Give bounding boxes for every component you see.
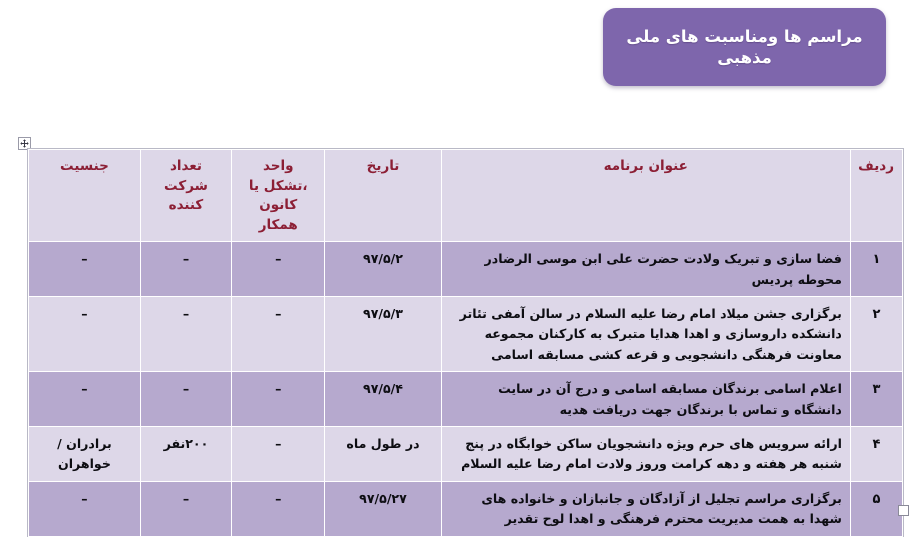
cell-count: ۲۰۰نفر: [140, 426, 231, 481]
column-header-gender[interactable]: جنسیت: [29, 150, 141, 242]
cell-index: ۵: [850, 481, 902, 536]
table-row[interactable]: ۴ ارائه سرویس های حرم ویژه دانشجویان ساک…: [29, 426, 903, 481]
cell-title: برگزاری جشن میلاد امام رضا علیه السلام د…: [441, 297, 850, 372]
cell-gender: –: [29, 481, 141, 536]
table-row[interactable]: ۵ برگزاری مراسم تجلیل از آزادگان و جانبا…: [29, 481, 903, 536]
cell-date: ۹۷/۵/۲۷: [325, 481, 441, 536]
column-header-count[interactable]: تعداد شرکت کننده: [140, 150, 231, 242]
cell-title: ارائه سرویس های حرم ویژه دانشجویان ساکن …: [441, 426, 850, 481]
cell-unit: –: [232, 372, 325, 427]
column-header-date[interactable]: تاریخ: [325, 150, 441, 242]
table-header-row: ردیف عنوان برنامه تاریخ واحد ،تشکل یا کا…: [29, 150, 903, 242]
cell-index: ۱: [850, 242, 902, 297]
cell-count: –: [140, 372, 231, 427]
cell-gender: برادران /خواهران: [29, 426, 141, 481]
title-badge-text: مراسم ها ومناسبت های ملی مذهبی: [603, 26, 886, 69]
cell-count: –: [140, 242, 231, 297]
cell-date: ۹۷/۵/۳: [325, 297, 441, 372]
cell-date: ۹۷/۵/۲: [325, 242, 441, 297]
column-header-unit[interactable]: واحد ،تشکل یا کانون همکار: [232, 150, 325, 242]
cell-unit: –: [232, 297, 325, 372]
cell-count: –: [140, 297, 231, 372]
cell-date: ۹۷/۵/۴: [325, 372, 441, 427]
cell-gender: –: [29, 372, 141, 427]
cell-gender: –: [29, 242, 141, 297]
cell-index: ۳: [850, 372, 902, 427]
title-badge-container: مراسم ها ومناسبت های ملی مذهبی: [603, 8, 886, 86]
cell-gender: –: [29, 297, 141, 372]
table-row[interactable]: ۳ اعلام اسامی برندگان مسابقه اسامی و درج…: [29, 372, 903, 427]
cell-title: فضا سازی و تبریک ولادت حضرت علی ابن موسی…: [441, 242, 850, 297]
cell-index: ۴: [850, 426, 902, 481]
title-badge[interactable]: مراسم ها ومناسبت های ملی مذهبی: [603, 8, 886, 86]
resize-square-icon[interactable]: [898, 505, 909, 516]
column-header-title[interactable]: عنوان برنامه: [441, 150, 850, 242]
cell-title: اعلام اسامی برندگان مسابقه اسامی و درج آ…: [441, 372, 850, 427]
cell-count: –: [140, 481, 231, 536]
cell-title: برگزاری مراسم تجلیل از آزادگان و جانبازا…: [441, 481, 850, 536]
table-row[interactable]: ۲ برگزاری جشن میلاد امام رضا علیه السلام…: [29, 297, 903, 372]
cell-unit: –: [232, 242, 325, 297]
cell-unit: –: [232, 426, 325, 481]
table-row[interactable]: ۱ فضا سازی و تبریک ولادت حضرت علی ابن مو…: [29, 242, 903, 297]
cell-unit: –: [232, 481, 325, 536]
cell-date: در طول ماه: [325, 426, 441, 481]
program-table[interactable]: ردیف عنوان برنامه تاریخ واحد ،تشکل یا کا…: [28, 149, 903, 537]
cell-index: ۲: [850, 297, 902, 372]
column-header-index[interactable]: ردیف: [850, 150, 902, 242]
